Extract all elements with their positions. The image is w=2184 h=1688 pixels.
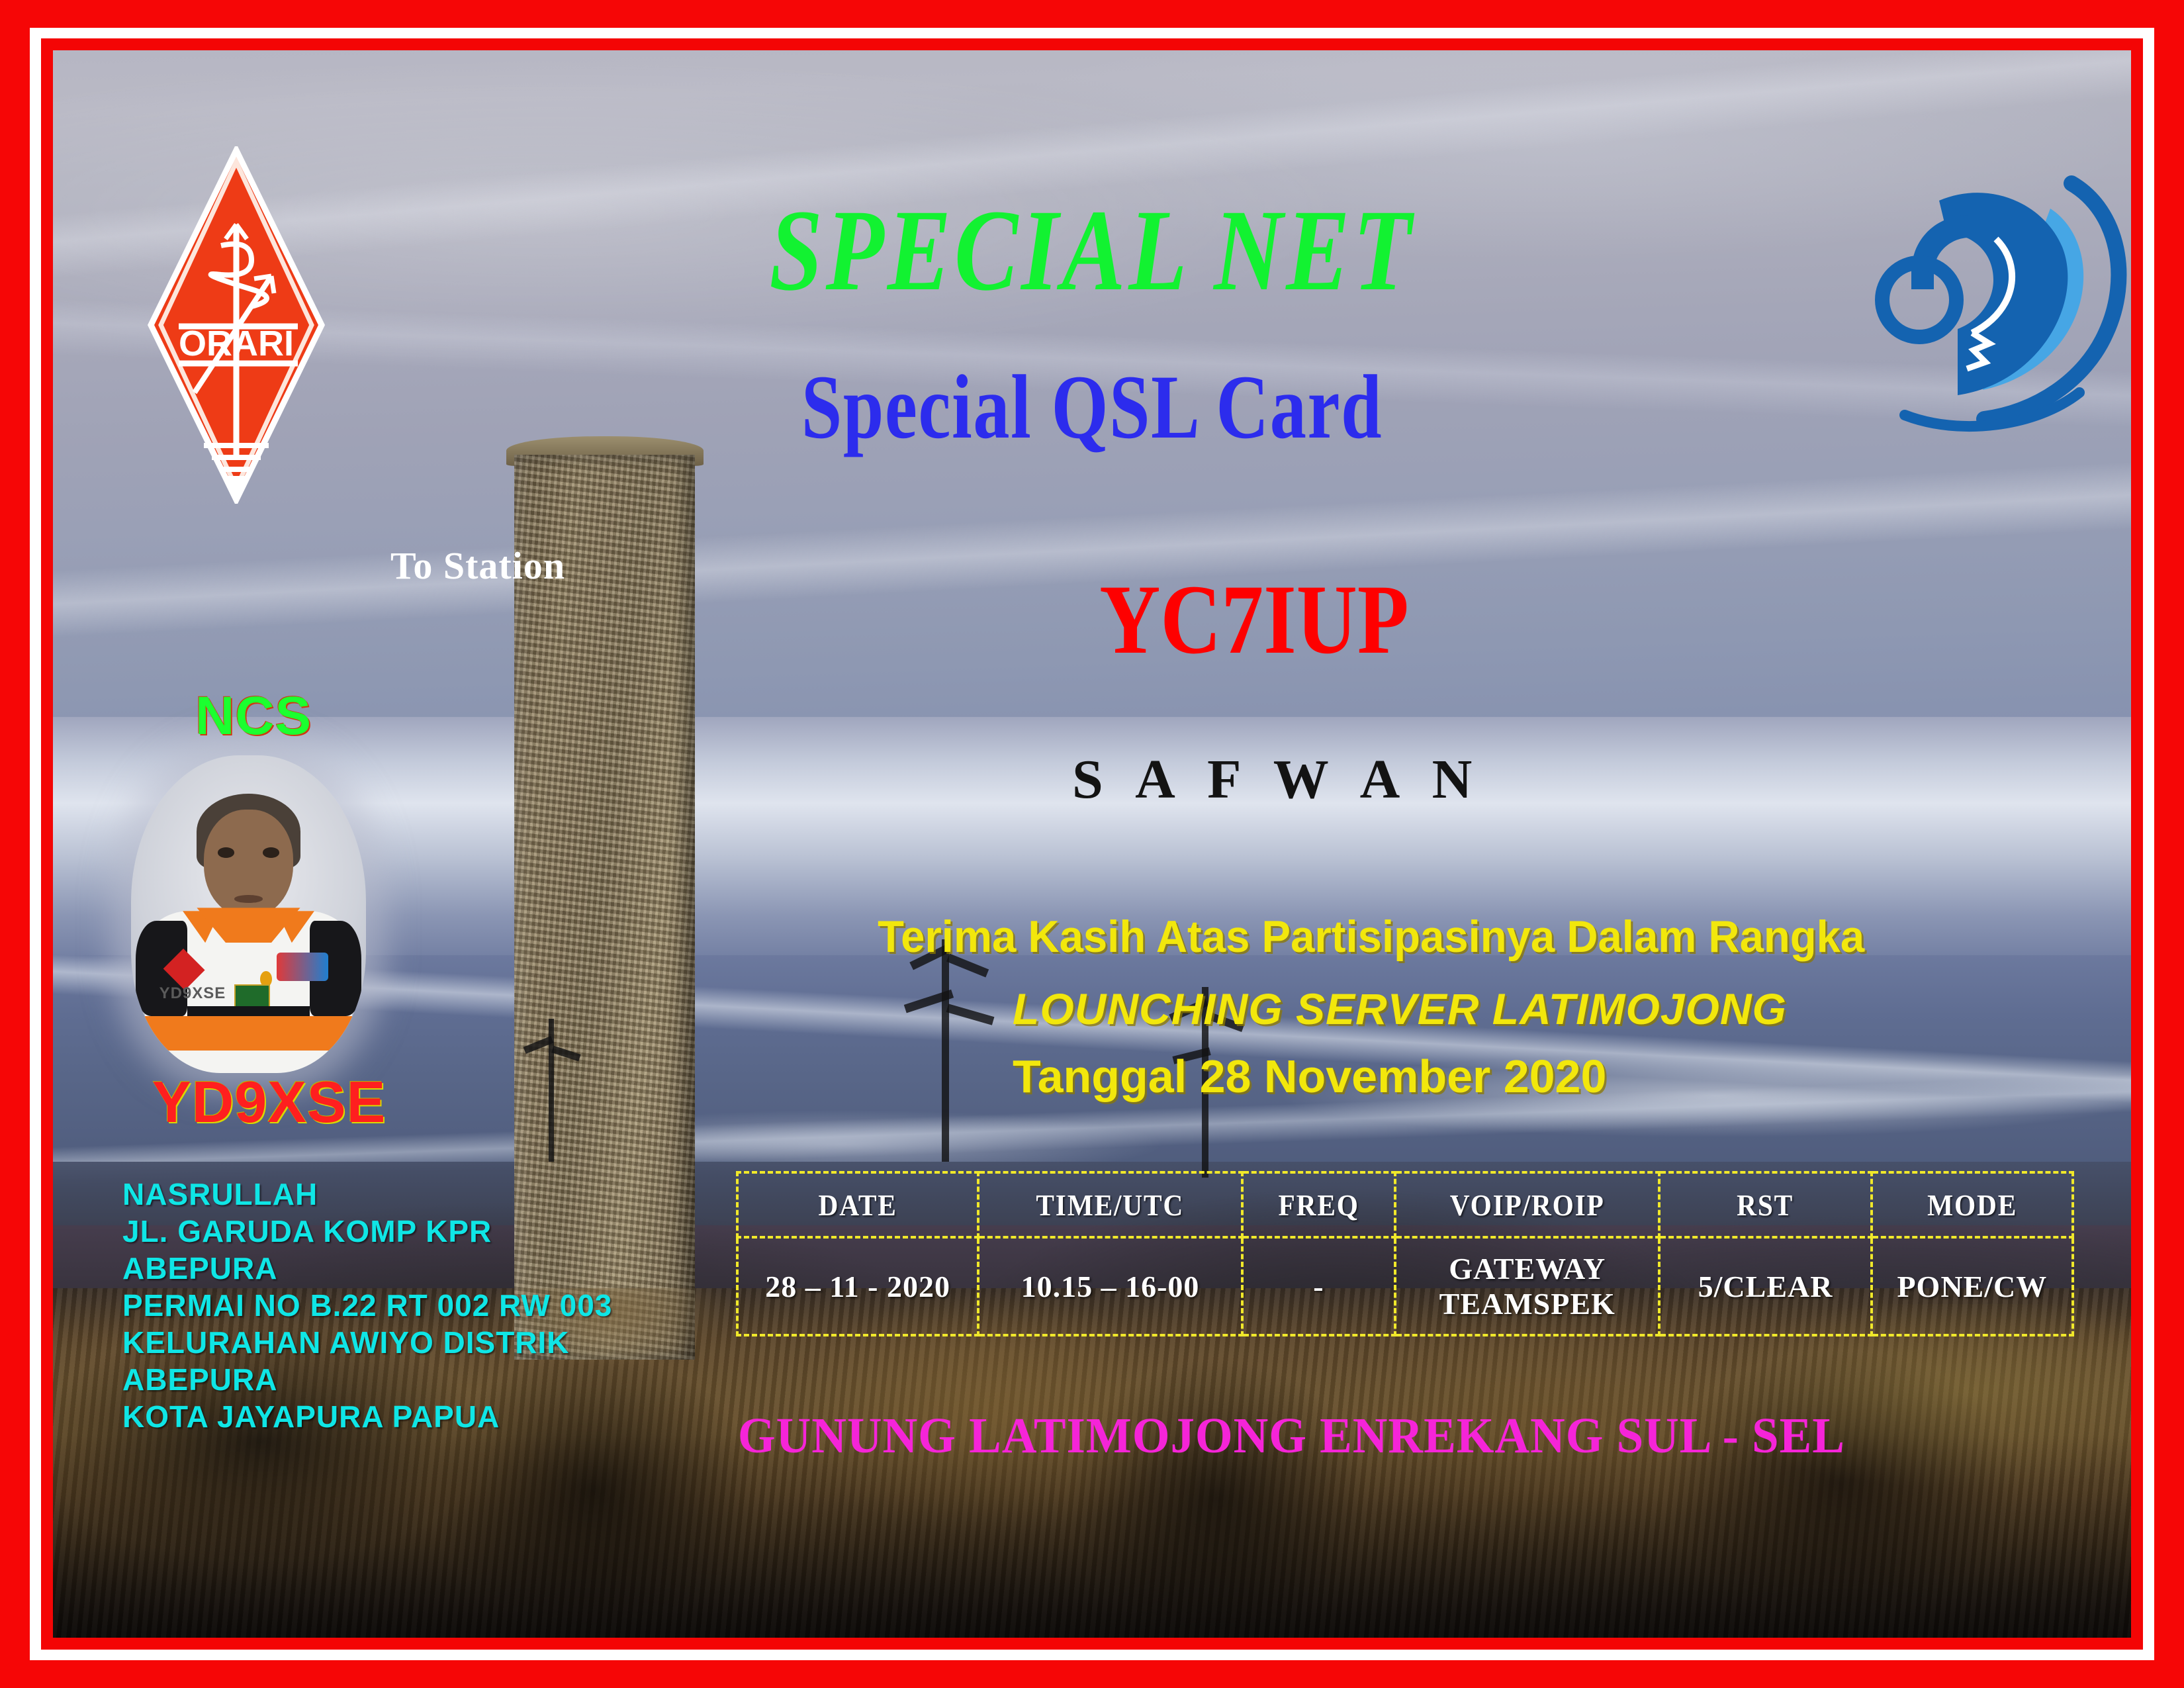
cell-voip-roip: GATEWAY TEAMSPEK [1395,1237,1659,1335]
event-title-line: LOUNCHING SERVER LATIMOJONG [1013,987,1787,1031]
portrait-mouth [234,895,263,903]
cell-voip-line2: TEAMSPEK [1397,1286,1657,1321]
tree-silhouette [510,1019,594,1162]
station-operator-name: S A F W A N [1072,752,1482,808]
column-header-freq: FREQ [1250,1172,1387,1237]
qsl-card: ORARI [0,0,2184,1688]
table-header-row: DATE TIME/UTC FREQ VOIP/ROIP RST MODE [737,1172,2073,1237]
cell-freq: - [1242,1237,1395,1335]
subtitle-special-qsl-card: Special QSL Card [261,361,1923,453]
portrait-chest-logo [277,953,328,981]
tree-silhouette [884,939,1009,1162]
cell-time: 10.15 – 16-00 [978,1237,1242,1335]
cell-voip-line1: GATEWAY [1397,1251,1657,1286]
to-station-label: To Station [390,547,565,585]
address-line: KOTA JAYAPURA PAPUA [122,1398,692,1435]
portrait-eye-left [218,847,234,857]
cell-mode: PONE/CW [1872,1237,2073,1335]
portrait-shirt-callsign: YD9XSE [159,984,226,1003]
address-line: KELURAHAN AWIYO DISTRIK [122,1324,692,1361]
address-line: PERMAI NO B.22 RT 002 RW 003 [122,1287,692,1324]
orari-logo-text: ORARI [179,324,294,363]
column-header-mode: MODE [1882,1172,2063,1237]
location-caption: GUNUNG LATIMOJONG ENREKANG SUL - SEL [738,1411,1845,1461]
column-header-time: TIME/UTC [991,1172,1229,1237]
event-date-line: Tanggal 28 November 2020 [1013,1053,1606,1100]
portrait-sash [145,1016,351,1051]
cell-rst: 5/CLEAR [1659,1237,1871,1335]
column-header-date: DATE [749,1172,966,1237]
ncs-callsign: YD9XSE [152,1073,386,1131]
column-header-voip-roip: VOIP/ROIP [1408,1172,1646,1237]
address-line: ABEPURA [122,1361,692,1398]
qso-log-table: DATE TIME/UTC FREQ VOIP/ROIP RST MODE 28… [736,1171,2074,1336]
title-special-net: SPECIAL NET [240,193,1944,309]
station-callsign: YC7IUP [1099,570,1408,669]
cell-date: 28 – 11 - 2020 [737,1237,978,1335]
address-line: JL. GARUDA KOMP KPR [122,1213,692,1250]
table-row: 28 – 11 - 2020 10.15 – 16-00 - GATEWAY T… [737,1237,2073,1335]
ncs-label: NCS [195,689,312,743]
address-line: NASRULLAH [122,1176,692,1213]
recipient-address-block: NASRULLAH JL. GARUDA KOMP KPR ABEPURA PE… [122,1176,692,1435]
event-thanks-line: Terima Kasih Atas Partisipasinya Dalam R… [878,914,1864,959]
operator-portrait: YD9XSE [131,755,366,1073]
background-photograph: ORARI [53,50,2131,1638]
portrait-eye-right [263,847,279,857]
column-header-rst: RST [1670,1172,1860,1237]
address-line: ABEPURA [122,1250,692,1287]
